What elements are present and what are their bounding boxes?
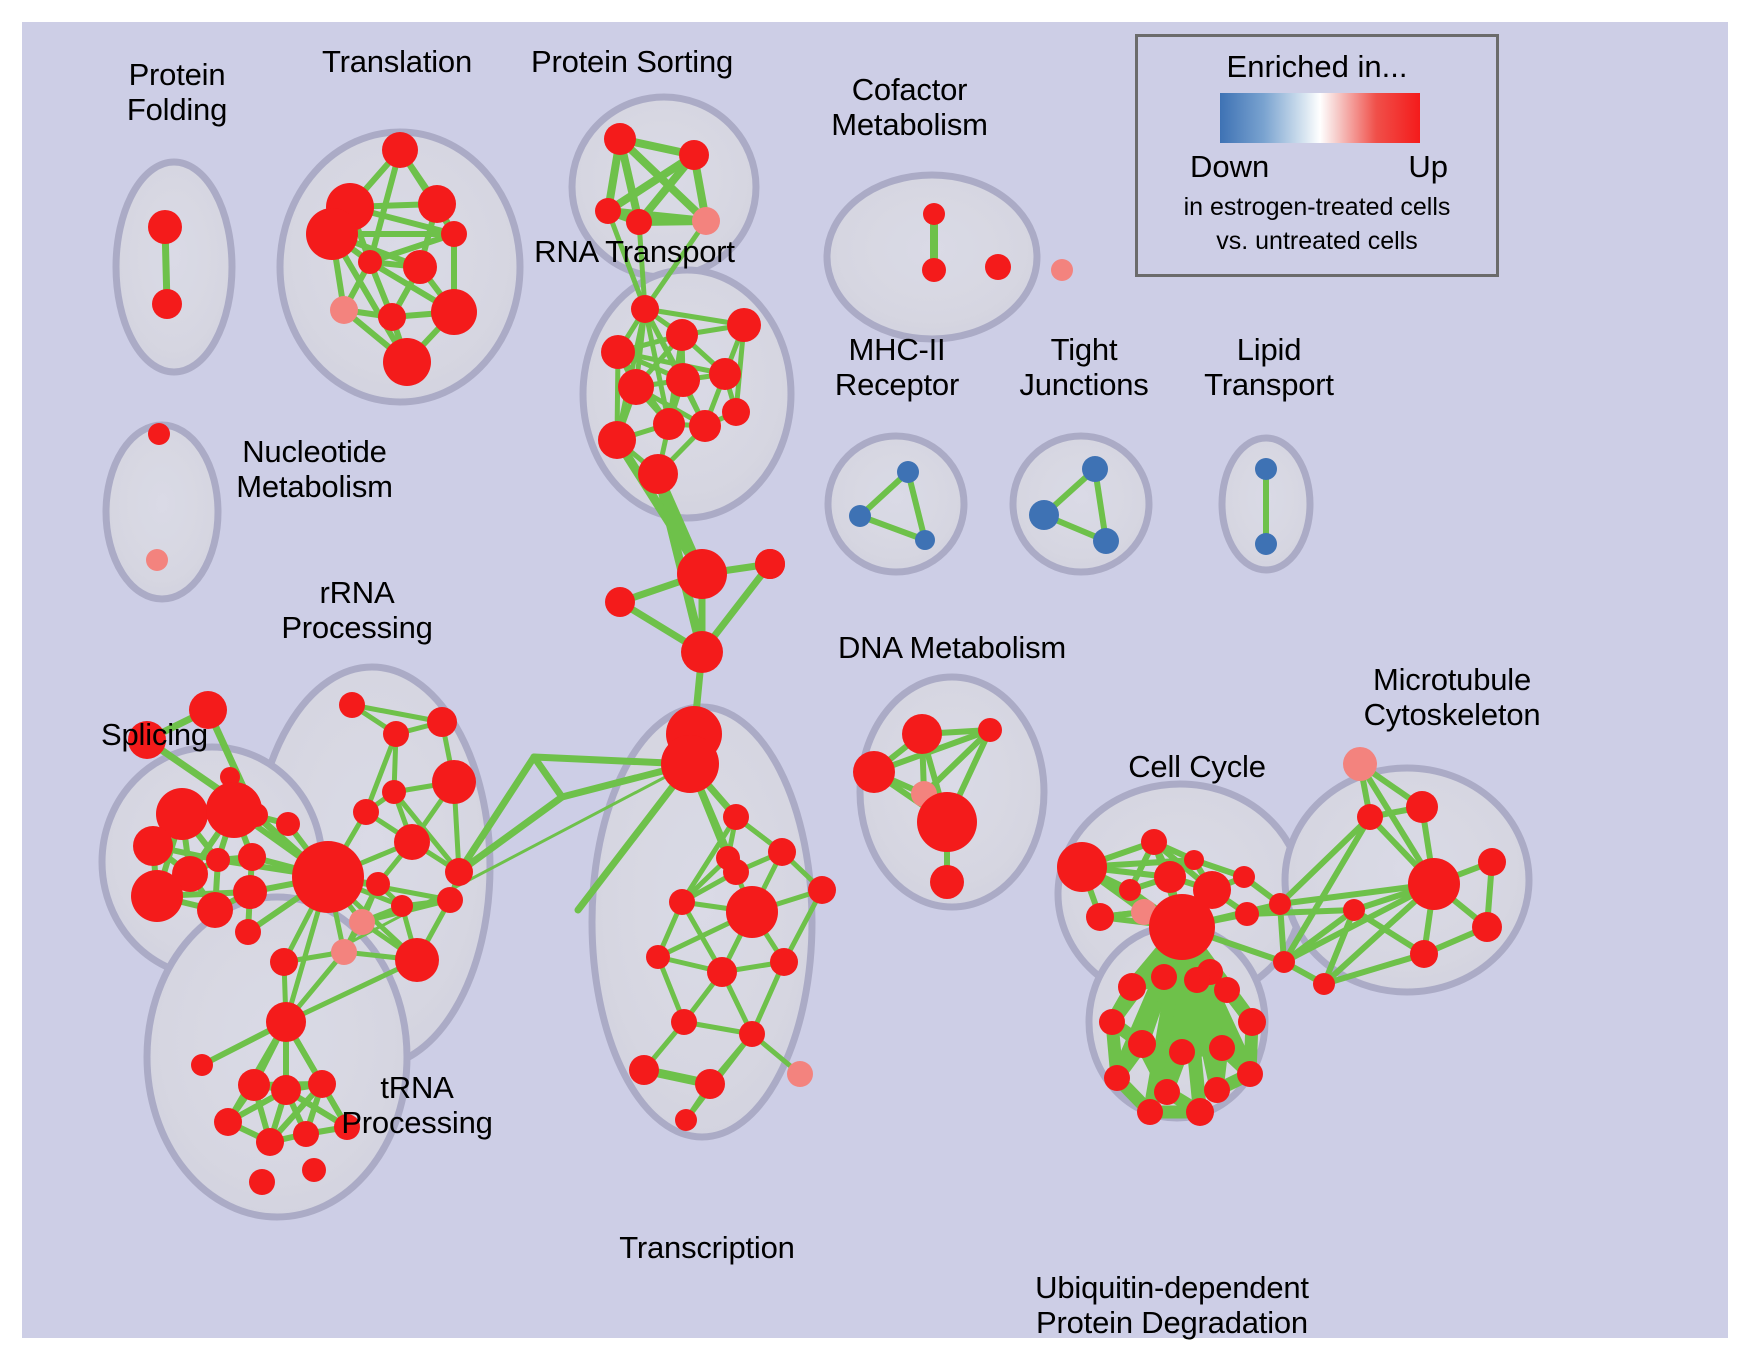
- legend-title: Enriched in...: [1138, 49, 1496, 85]
- cluster-label-splicing: Splicing: [67, 717, 242, 752]
- legend-subtitle-2: vs. untreated cells: [1138, 227, 1496, 256]
- legend-panel: Enriched in... Down Up in estrogen-treat…: [1135, 34, 1499, 277]
- figure-canvas: Protein Folding Translation Protein Sort…: [0, 0, 1750, 1360]
- cluster-label-nucleotide-metabolism: Nucleotide Metabolism: [197, 434, 432, 504]
- legend-up-label: Up: [1408, 149, 1448, 185]
- cluster-label-tight-junctions: Tight Junctions: [984, 332, 1184, 402]
- halo-trna: [147, 897, 407, 1217]
- cluster-label-microtubule: Microtubule Cytoskeleton: [1302, 662, 1602, 732]
- cluster-label-cell-cycle: Cell Cycle: [1097, 749, 1297, 784]
- cluster-label-protein-folding: Protein Folding: [82, 57, 272, 127]
- cluster-label-lipid-transport: Lipid Transport: [1169, 332, 1369, 402]
- cluster-label-mhc-ii-receptor: MHC-II Receptor: [797, 332, 997, 402]
- halo-tight: [1013, 436, 1149, 572]
- cluster-label-trna-processing: tRNA Processing: [317, 1070, 517, 1140]
- cluster-label-rrna-processing: rRNA Processing: [252, 575, 462, 645]
- halo-mhc: [828, 436, 964, 572]
- halo-protein-folding: [116, 162, 232, 372]
- legend-color-bar: [1220, 93, 1420, 143]
- cluster-label-cofactor-metabolism: Cofactor Metabolism: [792, 72, 1027, 142]
- network-plot-area: Protein Folding Translation Protein Sort…: [22, 22, 1728, 1338]
- cluster-label-translation: Translation: [277, 44, 517, 79]
- cluster-label-protein-sorting: Protein Sorting: [502, 44, 762, 79]
- cluster-label-transcription: Transcription: [582, 1230, 832, 1265]
- cluster-label-dna-metabolism: DNA Metabolism: [812, 630, 1092, 665]
- cluster-label-ubiquitin: Ubiquitin-dependent Protein Degradation: [962, 1270, 1382, 1340]
- legend-down-label: Down: [1190, 149, 1269, 185]
- cluster-label-rna-transport: RNA Transport: [507, 234, 762, 269]
- legend-subtitle-1: in estrogen-treated cells: [1138, 193, 1496, 222]
